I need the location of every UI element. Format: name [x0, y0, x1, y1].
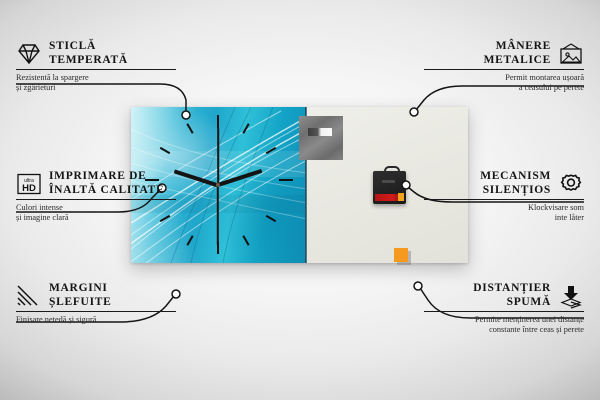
infographic-canvas: STICLĂ TEMPERATĂ Rezistentă la spargere …: [0, 0, 600, 400]
callout-sub-line2: și imagine clară: [16, 213, 176, 223]
callout-foam-spacer: DISTANȚIER SPUMĂ Permite menținerea unei…: [424, 282, 584, 335]
callout-sub-line1: Finisare netedă și sigură: [16, 312, 176, 325]
callout-hd-print: ultra HD IMPRIMARE DE ÎNALTĂ CALITATE Cu…: [16, 170, 176, 223]
callout-sub-line2: și zgârieturi: [16, 83, 176, 93]
callout-metal-handles: MÂNERE METALICE Permit montarea ușoară a…: [424, 40, 584, 93]
callout-sub-line2: constante între ceas și perete: [424, 325, 584, 335]
callout-title: MARGINI ȘLEFUITE: [49, 282, 111, 309]
callout-title: STICLĂ TEMPERATĂ: [49, 40, 128, 67]
down-arrow-stack-icon: [558, 284, 584, 308]
callout-header: STICLĂ TEMPERATĂ: [16, 40, 176, 67]
picture-hanger-icon: [558, 42, 584, 66]
callout-polished-edges: MARGINI ȘLEFUITE Finisare netedă și sigu…: [16, 282, 176, 325]
clock-center-pin: [216, 183, 220, 187]
callout-sub-line1: Klockvisare som: [424, 200, 584, 213]
callout-sub-line1: Rezistentă la spargere: [16, 70, 176, 83]
callout-silent-mechanism: MECANISM SILENȚIOS Klockvisare som inte …: [424, 170, 584, 223]
callout-header: ultra HD IMPRIMARE DE ÎNALTĂ CALITATE: [16, 170, 176, 197]
ultra-hd-icon: ultra HD: [16, 172, 42, 196]
callout-title: MÂNERE METALICE: [484, 40, 551, 67]
svg-text:HD: HD: [22, 183, 36, 194]
callout-sub-line2: inte låter: [424, 213, 584, 223]
foam-spacer: [394, 248, 408, 262]
diamond-icon: [16, 42, 42, 66]
beveled-edge-icon: [16, 284, 42, 308]
callout-sub-line1: Permit montarea ușoară: [424, 70, 584, 83]
clock-second-hand-top: [217, 127, 219, 185]
callout-title: IMPRIMARE DE ÎNALTĂ CALITATE: [49, 170, 164, 197]
callout-sub-line1: Permite menținerea unei distanțe: [424, 312, 584, 325]
metal-hanger-slot: [308, 128, 332, 136]
metal-hanger-plate: [299, 116, 343, 160]
callout-title: DISTANȚIER SPUMĂ: [473, 282, 551, 309]
callout-tempered-glass: STICLĂ TEMPERATĂ Rezistentă la spargere …: [16, 40, 176, 93]
battery-plus-terminal: [398, 193, 404, 201]
callout-title: MECANISM SILENȚIOS: [480, 170, 551, 197]
callout-header: MARGINI ȘLEFUITE: [16, 282, 176, 309]
callout-header: MECANISM SILENȚIOS: [424, 170, 584, 197]
gear-icon: [558, 172, 584, 196]
callout-sub-line1: Culori intense: [16, 200, 176, 213]
callout-sub-line2: a ceasului pe perete: [424, 83, 584, 93]
callout-header: MÂNERE METALICE: [424, 40, 584, 67]
clock-second-hand: [217, 185, 219, 245]
callout-header: DISTANȚIER SPUMĂ: [424, 282, 584, 309]
mechanism-shaft: [382, 180, 395, 183]
